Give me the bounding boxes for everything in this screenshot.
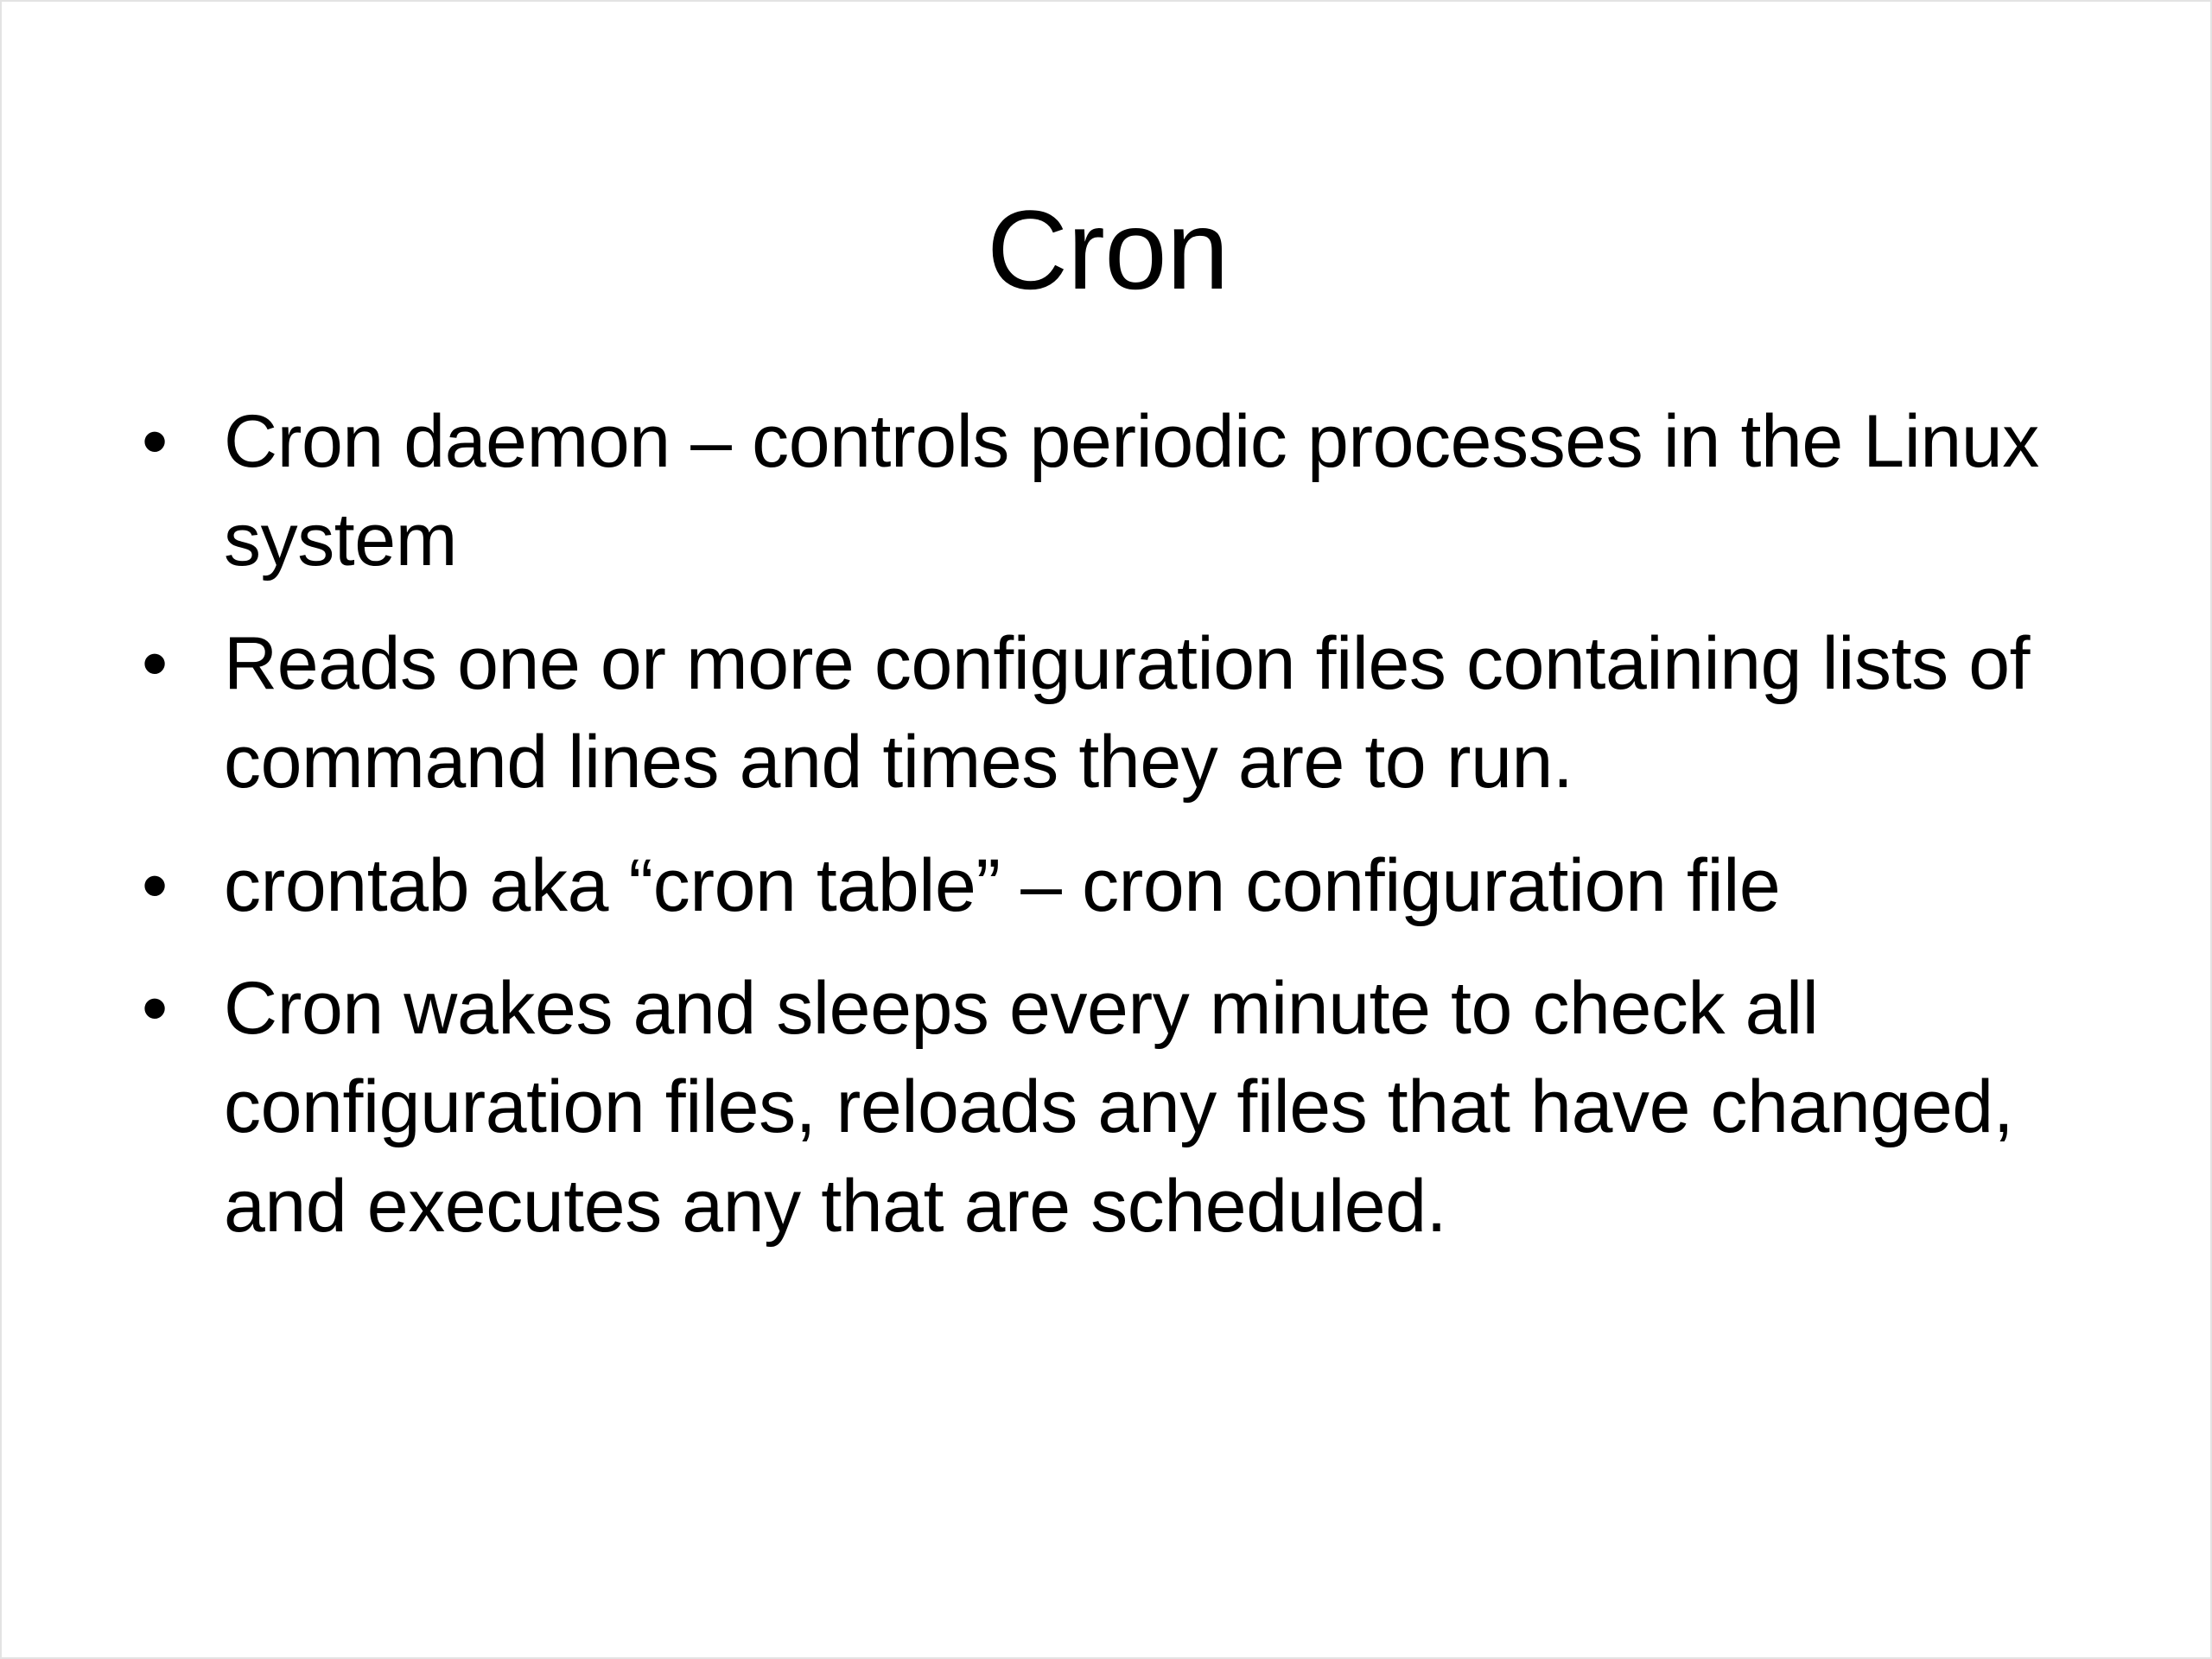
bullet-point-icon: • <box>142 392 194 491</box>
bullet-point-icon: • <box>142 836 194 935</box>
bullet-point-icon: • <box>142 614 194 713</box>
bullet-point-icon: • <box>142 959 194 1058</box>
list-item: • Cron daemon – controls periodic proces… <box>131 392 2110 590</box>
list-item: • Reads one or more configuration files … <box>131 614 2110 812</box>
bullet-list: • Cron daemon – controls periodic proces… <box>131 392 2110 1255</box>
slide-body-content: • Cron daemon – controls periodic proces… <box>131 392 2110 1255</box>
list-item-text: Reads one or more configuration files co… <box>224 614 2110 812</box>
list-item-text: Cron daemon – controls periodic processe… <box>224 392 2110 590</box>
slide-title-container: Cron <box>2 114 2212 386</box>
presentation-slide: Cron • Cron daemon – controls periodic p… <box>0 0 2212 1659</box>
list-item-text: Cron wakes and sleeps every minute to ch… <box>224 959 2110 1255</box>
page-title: Cron <box>987 189 1229 310</box>
list-item: • crontab aka “cron table” – cron config… <box>131 836 2110 935</box>
list-item-text: crontab aka “cron table” – cron configur… <box>224 836 2110 935</box>
list-item: • Cron wakes and sleeps every minute to … <box>131 959 2110 1255</box>
